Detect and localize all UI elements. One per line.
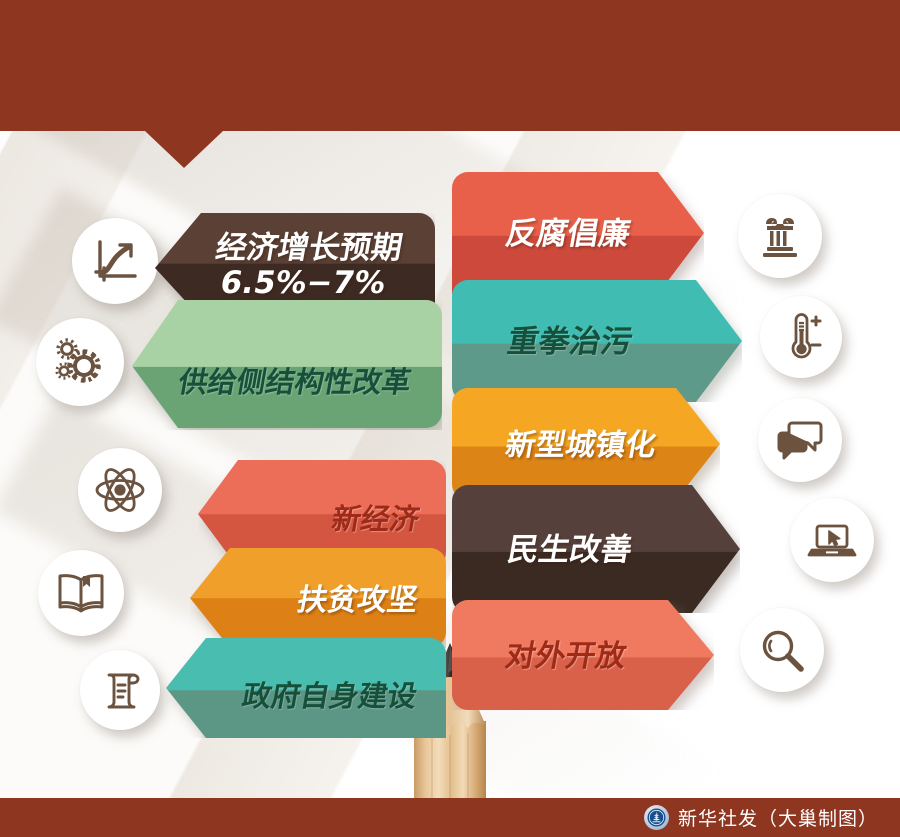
thermometer-icon	[760, 296, 842, 378]
keyword-label-government-self-building: 政府自身建设	[162, 664, 451, 712]
growth-chart-icon	[72, 218, 158, 304]
speech-bubbles-icon	[758, 398, 842, 482]
footer-credit-text: 新华社发（大巢制图）	[678, 804, 878, 831]
keyword-label-supply-side-reform: 供给侧结构性改革	[126, 332, 448, 398]
infographic-canvas: 十个关键词解读2016年政府工作报告	[0, 0, 900, 837]
keyword-label-opening-up: 对外开放	[449, 636, 718, 674]
open-book-icon	[38, 550, 124, 636]
magnifier-icon	[740, 608, 824, 692]
atom-icon	[78, 448, 162, 532]
keyword-label-new-economy: 新经济	[194, 493, 449, 535]
header-bar	[0, 0, 900, 131]
xinhua-logo-icon	[644, 805, 669, 830]
keyword-banner-new-urbanization[interactable]: 新型城镇化	[452, 388, 720, 500]
keyword-label-anti-corruption: 反腐倡廉	[449, 215, 707, 252]
header-notch-arrow	[145, 131, 223, 168]
keyword-banner-anti-corruption[interactable]: 反腐倡廉	[452, 172, 704, 294]
laptop-cursor-icon	[790, 498, 874, 582]
keyword-banner-poverty-alleviation[interactable]: 扶贫攻坚	[190, 548, 446, 648]
keyword-label-new-urbanization: 新型城镇化	[449, 425, 724, 463]
keyword-banner-government-self-building[interactable]: 政府自身建设	[166, 638, 446, 738]
keyword-label-pollution-control: 重拳治污	[449, 323, 745, 360]
footer-bar: 新华社发（大巢制图）	[0, 798, 900, 837]
keyword-banner-livelihood-improvement[interactable]: 民生改善	[452, 485, 740, 613]
keyword-label-poverty-alleviation: 扶贫攻坚	[187, 578, 450, 618]
gears-icon	[36, 318, 124, 406]
column-pillar-icon	[738, 194, 822, 278]
keyword-label-livelihood-improvement: 民生改善	[449, 531, 743, 568]
keyword-banner-opening-up[interactable]: 对外开放	[452, 600, 714, 710]
scroll-document-icon	[80, 650, 160, 730]
keyword-banner-pollution-control[interactable]: 重拳治污	[452, 280, 742, 402]
keyword-banner-supply-side-reform[interactable]: 供给侧结构性改革	[132, 300, 442, 430]
keyword-label-growth-target: 经济增长预期 6.5%−7%	[149, 231, 441, 300]
